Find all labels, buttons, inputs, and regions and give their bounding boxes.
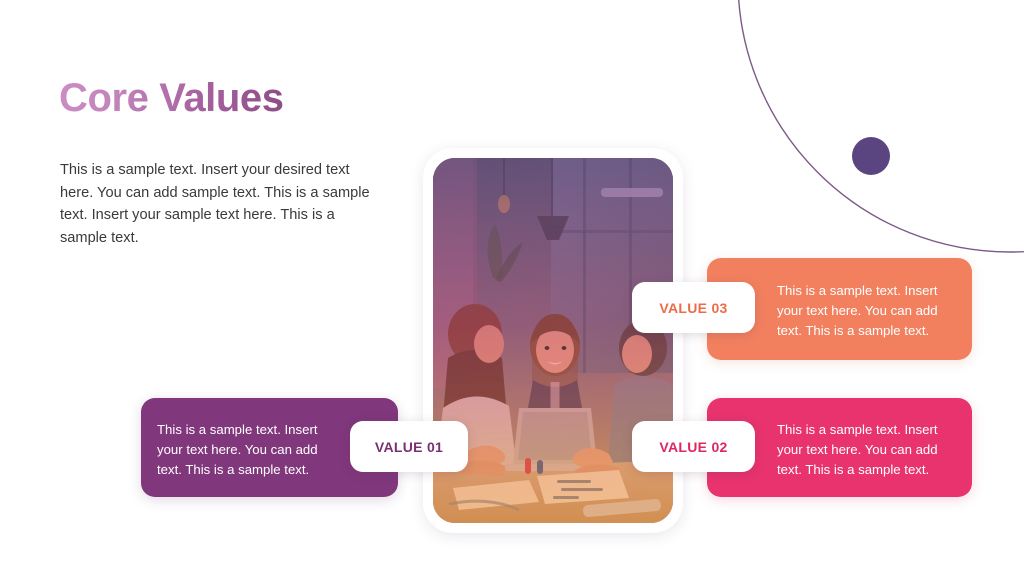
value-label-03-text: VALUE 03 [659,300,727,316]
page-title: Core Values [59,76,284,120]
slide-canvas: Core Values This is a sample text. Inser… [0,0,1024,576]
value-label-03[interactable]: VALUE 03 [632,282,755,333]
intro-paragraph: This is a sample text. Insert your desir… [60,159,370,249]
value-card-01-body: This is a sample text. Insert your text … [157,420,336,480]
value-label-01-text: VALUE 01 [375,439,443,455]
value-label-01[interactable]: VALUE 01 [350,421,468,472]
value-label-02[interactable]: VALUE 02 [632,421,755,472]
value-card-03-body: This is a sample text. Insert your text … [777,281,954,341]
decorative-arc-icon [730,0,1024,260]
decorative-dot-icon [852,137,890,175]
value-label-02-text: VALUE 02 [659,439,727,455]
photo-card [423,148,683,533]
value-card-02-body: This is a sample text. Insert your text … [777,420,954,480]
